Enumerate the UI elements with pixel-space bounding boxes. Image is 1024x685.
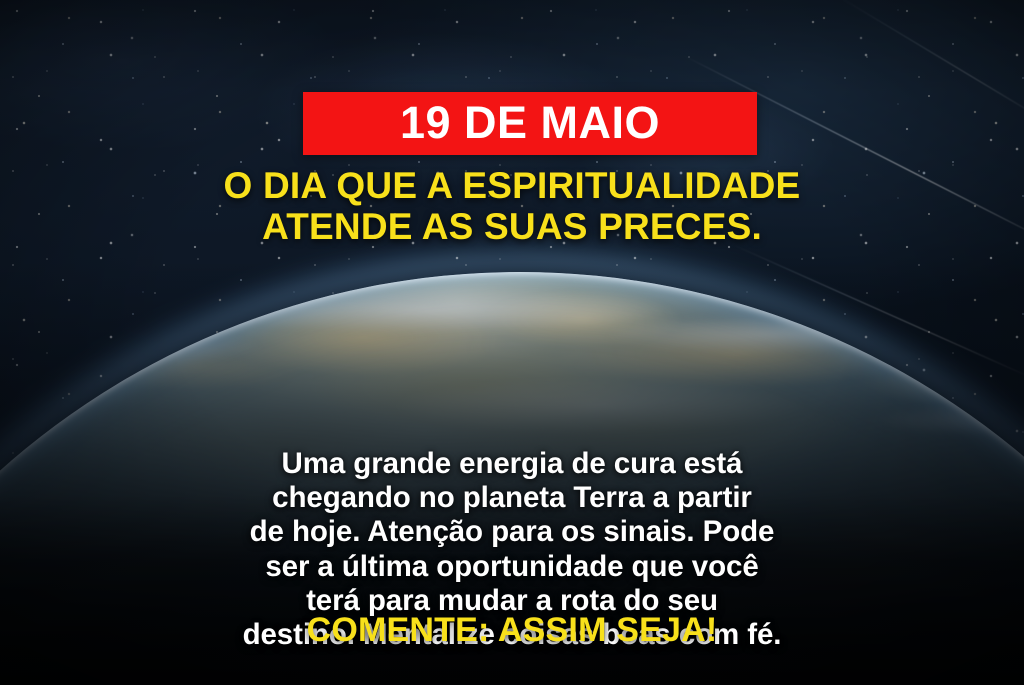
- body-line-2: chegando no planeta Terra a partir: [56, 481, 968, 515]
- poster-canvas: 19 DE MAIO O DIA QUE A ESPIRITUALIDADE A…: [0, 0, 1024, 685]
- cta-label: COMENTE: ASSIM SEJA!: [307, 611, 718, 649]
- body-line-3: de hoje. Atenção para os sinais. Pode: [56, 515, 968, 549]
- call-to-action: COMENTE: ASSIM SEJA!: [0, 613, 1024, 647]
- date-banner-label: 19 DE MAIO: [400, 100, 660, 145]
- body-line-1: Uma grande energia de cura está: [56, 447, 968, 481]
- poster-content: 19 DE MAIO O DIA QUE A ESPIRITUALIDADE A…: [0, 0, 1024, 685]
- headline-line-1: O DIA QUE A ESPIRITUALIDADE: [40, 165, 984, 206]
- headline-line-2: ATENDE AS SUAS PRECES.: [40, 206, 984, 247]
- date-banner: 19 DE MAIO: [303, 92, 757, 155]
- body-line-4: ser a última oportunidade que você: [56, 550, 968, 584]
- headline: O DIA QUE A ESPIRITUALIDADE ATENDE AS SU…: [0, 165, 1024, 248]
